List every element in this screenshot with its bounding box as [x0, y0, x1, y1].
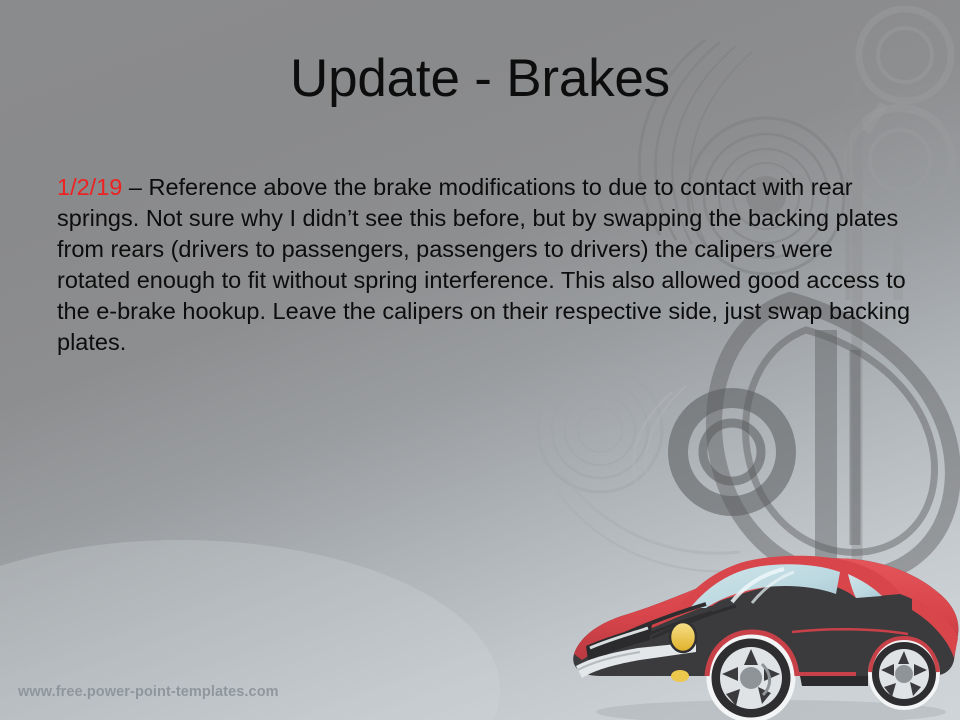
- slide-canvas: Update - Brakes 1/2/19 – Reference above…: [0, 0, 960, 720]
- muscle-car-illustration: [556, 536, 960, 720]
- body-paragraph: – Reference above the brake modification…: [57, 174, 910, 355]
- body-date: 1/2/19: [57, 174, 122, 200]
- template-watermark-url: www.free.power-point-templates.com: [18, 683, 279, 701]
- slide-title: Update - Brakes: [0, 48, 960, 110]
- slide-body-text: 1/2/19 – Reference above the brake modif…: [57, 172, 912, 358]
